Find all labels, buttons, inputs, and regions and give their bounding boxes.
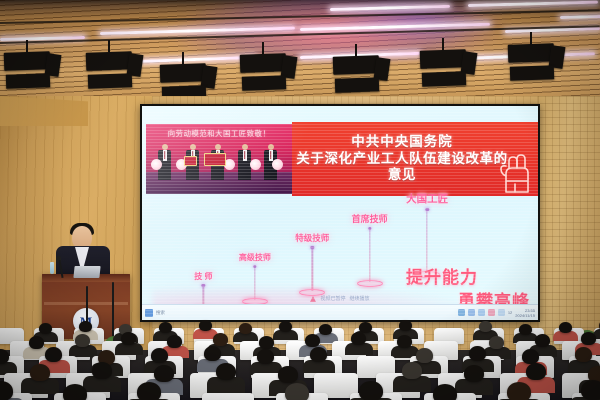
audience-head <box>279 321 292 332</box>
audience-head <box>575 347 592 362</box>
audience-head <box>216 363 236 380</box>
stage-light-lower <box>335 77 379 93</box>
stage-light-stem <box>108 40 110 52</box>
audience-head <box>79 321 92 332</box>
wifi-icon[interactable] <box>458 309 465 316</box>
audience-head <box>433 384 457 400</box>
audience-head <box>278 366 298 383</box>
ladder-step-label: 高级技师 <box>239 252 271 263</box>
audience-head <box>29 336 44 349</box>
award-certificate-small <box>184 156 197 166</box>
stage-light-lens <box>86 51 120 60</box>
bouquet <box>250 159 261 170</box>
audience-head <box>526 363 546 380</box>
audience-head <box>310 347 327 362</box>
audience-head <box>397 335 412 348</box>
audience-head <box>30 364 50 381</box>
ladder-step-knob <box>202 284 205 287</box>
stage-light-lens <box>240 53 274 62</box>
ladder-step-pole <box>369 230 370 282</box>
stage-light-lower <box>242 75 286 91</box>
audience-head <box>167 335 182 348</box>
photo-person-tie <box>244 151 246 159</box>
audience-head <box>416 348 433 363</box>
audience-head <box>519 324 532 335</box>
audience-head <box>75 334 90 347</box>
bouquet <box>151 159 162 170</box>
audience-head <box>259 336 274 349</box>
led-screen[interactable]: 向劳动模范和大国工匠致敬！ 中共中央国务院 关于深化产业工人队伍建设改革的意见 <box>142 106 538 320</box>
photo-person-tie <box>270 151 272 159</box>
wall-right <box>538 96 600 356</box>
stage-light-stem <box>26 40 28 52</box>
audience-head <box>204 346 221 361</box>
ladder-step-label: 首席技师 <box>352 212 388 225</box>
audience-head <box>479 321 492 332</box>
ceiling <box>0 0 600 100</box>
slide-title-line-1: 中共中央国务院 <box>292 134 512 150</box>
audience-head <box>39 323 52 334</box>
stage-light-lower <box>510 65 554 81</box>
laptop <box>73 266 100 278</box>
slide-title-banner: 中共中央国务院 关于深化产业工人队伍建设改革的意见 <box>292 122 538 196</box>
audience-head <box>489 336 504 349</box>
audience-head <box>213 333 228 346</box>
audience-head <box>581 332 596 345</box>
stage-light-lens <box>420 49 454 58</box>
ladder-step-knob <box>253 265 256 268</box>
audience-head <box>464 365 484 382</box>
warning-triangle-icon <box>310 296 316 302</box>
notification-icon[interactable] <box>498 309 505 316</box>
audience-head <box>507 382 531 400</box>
ladder-step-knob <box>425 208 428 211</box>
slide-award-photo: 向劳动模范和大国工匠致敬！ <box>146 124 292 194</box>
audience-head <box>63 384 87 400</box>
video-player-bar[interactable]: 视频已暂停 继续播放 <box>142 293 538 304</box>
stage-light-stem <box>262 42 264 54</box>
ladder-step-label: 技 师 <box>194 271 212 282</box>
audience-head <box>137 382 161 400</box>
stage-light <box>240 54 274 62</box>
audience-head <box>239 323 252 334</box>
stage-light-lower <box>88 73 132 89</box>
audience-head <box>257 349 274 364</box>
audience-head <box>285 383 309 400</box>
stage-light-lower <box>6 73 50 89</box>
audience-head <box>154 365 174 382</box>
ladder-step-knob <box>368 227 371 230</box>
audience-head <box>199 320 212 331</box>
audience-head <box>399 320 412 331</box>
ladder-step-label: 特级技师 <box>295 232 329 244</box>
ladder-step: 特级技师 <box>297 246 327 296</box>
stage-light <box>333 56 367 64</box>
seated-audience <box>0 318 600 400</box>
stage-light-lens <box>4 51 38 60</box>
audience-head <box>351 332 366 345</box>
stage-light-stem <box>182 52 184 64</box>
audience-head <box>559 322 572 333</box>
ladder-step-knob <box>311 246 314 249</box>
photo-person-tie <box>164 151 166 159</box>
player-resume-label[interactable]: 继续播放 <box>350 295 370 302</box>
audience-head <box>402 362 422 379</box>
audience-head <box>581 380 600 400</box>
player-paused-label: 视频已暂停 <box>320 295 345 302</box>
stage-light <box>160 64 194 72</box>
bouquet <box>272 159 283 170</box>
audience-head <box>92 362 112 379</box>
taskbar-search-label[interactable]: 搜索 <box>156 310 165 316</box>
taskbar-clock-date: 2024/11/15 <box>515 313 535 318</box>
stage-light-lens <box>333 55 367 64</box>
stage-light-lens <box>160 63 194 72</box>
stage-light-stem <box>442 38 444 50</box>
audience-head <box>319 324 332 335</box>
stage-light-lens <box>508 43 542 52</box>
audience-head <box>159 322 172 333</box>
ladder-step-pole <box>312 249 313 291</box>
ime-icon[interactable] <box>488 309 495 316</box>
award-certificate <box>204 153 226 166</box>
windows-start-icon[interactable] <box>145 309 153 317</box>
ladder-step-label: 大国工匠 <box>406 191 448 206</box>
stage-light <box>86 52 120 60</box>
taskbar-clock[interactable]: 23:55 2024/11/15 <box>515 308 535 318</box>
auditorium-scene: 向劳动模范和大国工匠致敬！ 中共中央国务院 关于深化产业工人队伍建设改革的意见 <box>0 0 600 400</box>
audience-head <box>359 381 383 400</box>
volume-icon[interactable] <box>468 309 475 316</box>
audience-chair <box>202 393 254 400</box>
slogan-improve-ability: 提升能力 <box>406 263 478 288</box>
audience-head <box>305 334 320 347</box>
stage-light <box>4 52 38 60</box>
audience-head <box>121 332 136 345</box>
stage-light <box>420 50 454 58</box>
stage-light-lower <box>422 71 466 87</box>
photo-banner-text: 向劳动模范和大国工匠致敬！ <box>146 128 292 139</box>
audience-head <box>522 349 539 364</box>
audience-head <box>535 334 550 347</box>
led-screen-frame: 向劳动模范和大国工匠致敬！ 中共中央国务院 关于深化产业工人队伍建设改革的意见 <box>140 104 540 322</box>
ladder-step: 首席技师 <box>355 227 385 287</box>
raised-fist-icon <box>498 148 532 194</box>
audience-head <box>469 346 486 361</box>
slide-title-line-2: 关于深化产业工人队伍建设改革的意见 <box>292 151 512 184</box>
stage-light <box>508 44 542 52</box>
ladder-step-base <box>357 280 383 287</box>
water-bottle <box>50 262 54 274</box>
audience-head <box>45 347 62 362</box>
audience-head <box>151 348 168 363</box>
photo-person <box>238 144 251 180</box>
battery-icon[interactable] <box>478 309 485 316</box>
taskbar-temperature: 12 <box>508 310 512 315</box>
taskbar-tray[interactable]: 12 23:55 2024/11/15 <box>458 308 535 318</box>
stage-light-stem <box>355 44 357 56</box>
stage-light-stem <box>530 32 532 44</box>
